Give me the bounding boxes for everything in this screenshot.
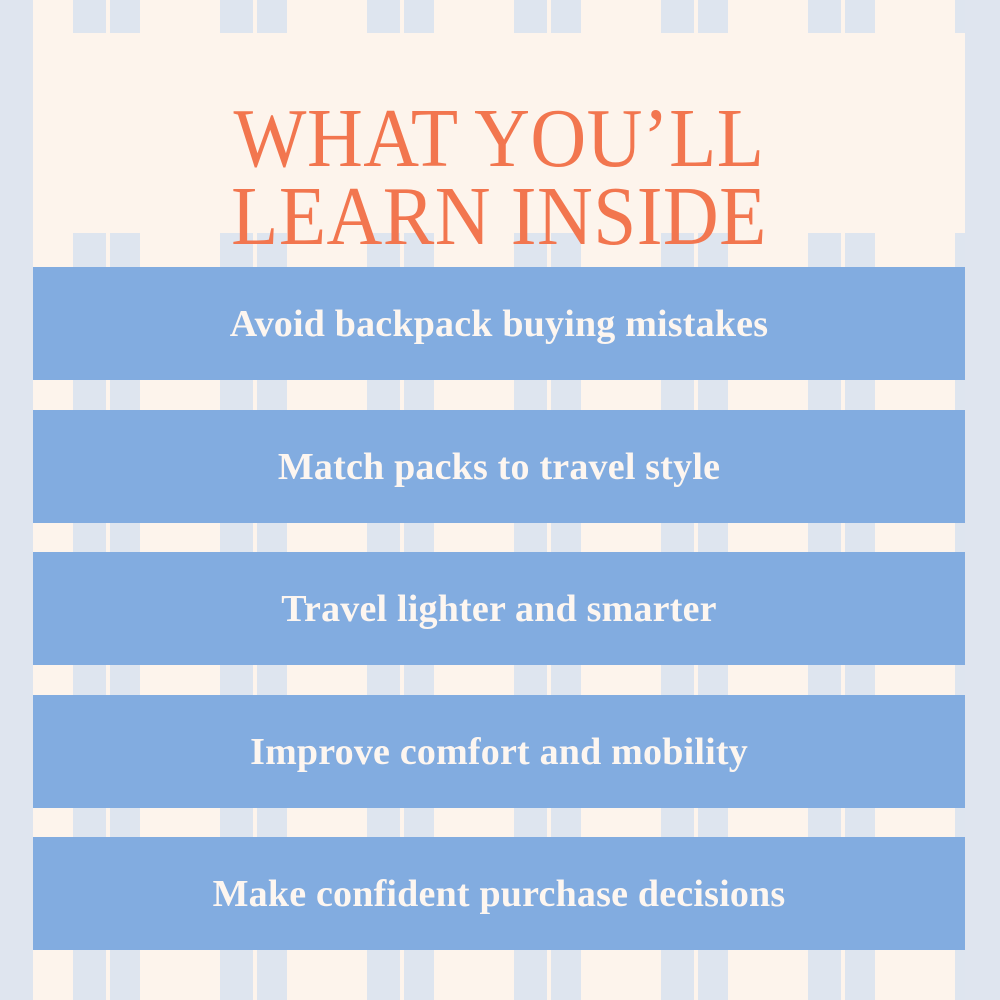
- benefit-label-3: Travel lighter and smarter: [281, 587, 716, 631]
- benefit-label-1: Avoid backpack buying mistakes: [230, 302, 768, 346]
- benefit-bar-4: Improve comfort and mobility: [33, 695, 965, 808]
- page-title: WHAT YOU’LL LEARN INSIDE: [70, 100, 927, 255]
- benefit-bar-3: Travel lighter and smarter: [33, 552, 965, 665]
- poster-canvas: WHAT YOU’LL LEARN INSIDE Avoid backpack …: [0, 0, 1000, 1000]
- right-edge-band: [965, 0, 1000, 1000]
- benefit-label-2: Match packs to travel style: [278, 445, 720, 489]
- benefit-label-5: Make confident purchase decisions: [213, 872, 786, 916]
- benefit-bar-5: Make confident purchase decisions: [33, 837, 965, 950]
- benefit-bar-1: Avoid backpack buying mistakes: [33, 267, 965, 380]
- benefit-bar-2: Match packs to travel style: [33, 410, 965, 523]
- benefit-label-4: Improve comfort and mobility: [250, 730, 748, 774]
- left-edge-band: [0, 0, 33, 1000]
